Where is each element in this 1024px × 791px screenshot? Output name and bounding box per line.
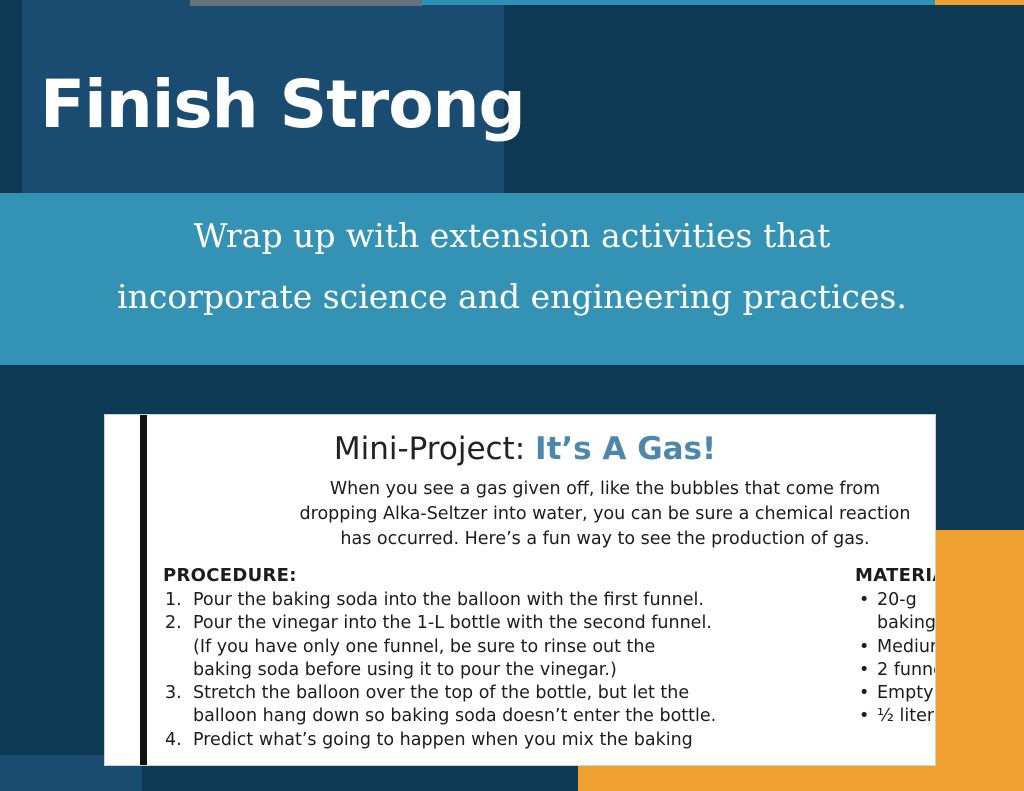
step-line: Pour the baking soda into the balloon wi…: [193, 589, 803, 612]
step-line: baking soda before using it to pour the …: [193, 659, 803, 682]
top-accent-grey-bar: [190, 0, 422, 6]
materials-list: • 20-g baking • Medium • 2 funnels: [855, 589, 935, 729]
slide-canvas: Finish Strong Wrap up with extension act…: [0, 0, 1024, 791]
subtitle-line-1: Wrap up with extension activities that: [194, 216, 831, 255]
materials-heading: MATERIALS:: [855, 565, 935, 586]
worksheet-intro-line: When you see a gas given off, like the b…: [155, 477, 935, 502]
bullet-icon: •: [859, 589, 869, 612]
worksheet-binding-bar: [140, 415, 147, 765]
step-line: Pour the vinegar into the 1-L bottle wit…: [193, 612, 803, 635]
slide-title-container: Finish Strong: [22, 20, 504, 190]
background-right-orange-block: [935, 530, 1024, 791]
materials-line: ½ liter: [877, 705, 935, 728]
step-line: Predict what’s going to happen when you …: [193, 729, 803, 752]
step-line: balloon hang down so baking soda doesn’t…: [193, 705, 803, 728]
procedure-step: 2. Pour the vinegar into the 1-L bottle …: [163, 612, 803, 682]
worksheet-title-plain: Mini-Project:: [334, 431, 525, 467]
top-accent-teal-bar: [422, 0, 935, 5]
step-line: (If you have only one funnel, be sure to…: [193, 636, 803, 659]
materials-line: Empty: [877, 682, 935, 705]
materials-line: Medium: [877, 636, 935, 659]
worksheet-content: Mini-Project: It’s A Gas! When you see a…: [155, 415, 935, 765]
top-accent-orange-bar: [935, 0, 1024, 5]
materials-item: • ½ liter: [855, 705, 935, 728]
worksheet-intro-line: has occurred. Here’s a fun way to see th…: [155, 527, 935, 552]
materials-item: • Empty: [855, 682, 935, 705]
step-number: 1.: [165, 589, 182, 612]
materials-item: • 20-g baking: [855, 589, 935, 636]
worksheet-materials-column: MATERIALS: • 20-g baking • Medium •: [855, 565, 935, 729]
slide-subtitle: Wrap up with extension activities that i…: [0, 205, 1024, 327]
procedure-list: 1. Pour the baking soda into the balloon…: [163, 589, 803, 752]
procedure-step: 3. Stretch the balloon over the top of t…: [163, 682, 803, 729]
bullet-icon: •: [859, 682, 869, 705]
step-number: 4.: [165, 729, 182, 752]
materials-item: • Medium: [855, 636, 935, 659]
bullet-icon: •: [859, 659, 869, 682]
materials-item: • 2 funnels: [855, 659, 935, 682]
page-title: Finish Strong: [22, 72, 525, 138]
step-number: 3.: [165, 682, 182, 705]
procedure-heading: PROCEDURE:: [163, 565, 803, 586]
worksheet-title-accent: It’s A Gas!: [535, 431, 716, 467]
worksheet-intro-line: dropping Alka-Seltzer into water, you ca…: [155, 502, 935, 527]
worksheet-procedure-column: PROCEDURE: 1. Pour the baking soda into …: [163, 565, 803, 752]
worksheet-image: Mini-Project: It’s A Gas! When you see a…: [105, 415, 935, 765]
step-number: 2.: [165, 612, 182, 635]
materials-line: baking: [877, 612, 935, 635]
procedure-step: 1. Pour the baking soda into the balloon…: [163, 589, 803, 612]
materials-line: 2 funnels: [877, 659, 935, 682]
materials-line: 20-g: [877, 589, 935, 612]
worksheet-title: Mini-Project: It’s A Gas!: [155, 431, 935, 467]
step-line: Stretch the balloon over the top of the …: [193, 682, 803, 705]
bullet-icon: •: [859, 705, 869, 728]
procedure-step: 4. Predict what’s going to happen when y…: [163, 729, 803, 752]
worksheet-intro: When you see a gas given off, like the b…: [155, 477, 935, 552]
bullet-icon: •: [859, 636, 869, 659]
subtitle-line-2: incorporate science and engineering prac…: [24, 266, 1000, 327]
